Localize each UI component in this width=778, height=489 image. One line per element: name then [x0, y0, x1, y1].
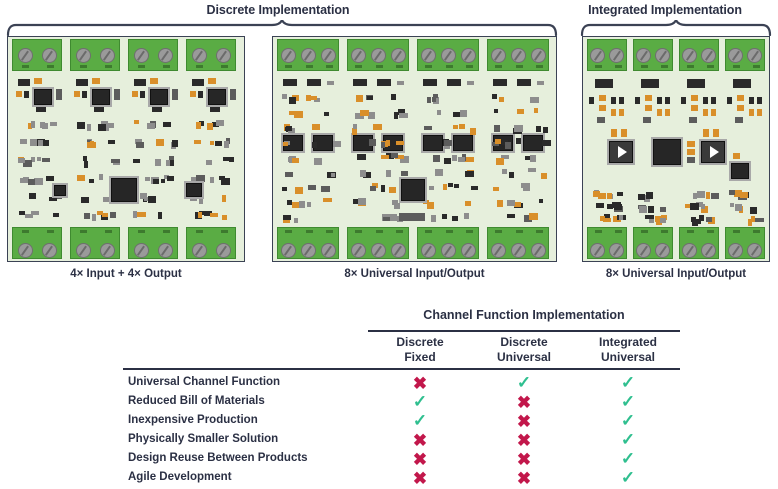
- smd-component: [37, 157, 41, 161]
- terminal-screw-icon: [371, 243, 386, 258]
- smd-component: [645, 105, 652, 111]
- smd-component: [452, 216, 458, 221]
- smd-component: [460, 110, 467, 117]
- smd-component: [299, 201, 305, 208]
- row-label: Universal Channel Function: [128, 376, 280, 388]
- smd-component: [493, 187, 499, 191]
- cell-mark: ✖: [368, 376, 472, 391]
- terminal-screw-icon: [747, 48, 762, 63]
- terminal-screw-icon: [636, 48, 651, 63]
- integrated-circuit: [92, 89, 110, 105]
- smd-component: [690, 203, 699, 210]
- smd-component: [373, 124, 382, 130]
- board-caption-1: 4× Input + 4× Output: [7, 268, 245, 280]
- terminal-screw-icon: [747, 243, 762, 258]
- smd-component: [208, 78, 216, 84]
- terminal-pad: [80, 230, 87, 233]
- integrated-circuit: [150, 89, 168, 105]
- terminal-pad: [661, 65, 668, 68]
- smd-component: [34, 178, 43, 185]
- terminal-block: [633, 227, 673, 259]
- smd-component: [611, 129, 617, 137]
- cell-mark: ✖: [472, 395, 576, 410]
- terminal-screw-icon: [728, 243, 743, 258]
- terminal-pad: [221, 230, 228, 233]
- cell-mark: ✖: [472, 433, 576, 448]
- smd-component: [429, 186, 434, 190]
- smd-component: [643, 117, 651, 123]
- smd-component: [358, 198, 366, 205]
- terminal-pad: [221, 65, 228, 68]
- terminal-pad: [466, 65, 473, 68]
- smd-component: [156, 139, 164, 146]
- smd-component: [453, 125, 458, 129]
- smd-component: [147, 123, 155, 129]
- smd-component: [36, 107, 46, 112]
- smd-component: [521, 183, 530, 188]
- smd-component: [452, 155, 457, 161]
- smd-component: [692, 219, 698, 226]
- smd-component: [111, 159, 120, 163]
- smd-component: [132, 91, 138, 97]
- integrated-circuit: [731, 163, 749, 179]
- smd-component: [467, 81, 474, 85]
- cell-mark: ✓: [576, 413, 680, 428]
- smd-component: [198, 91, 203, 98]
- smd-component: [431, 215, 436, 222]
- cell-mark: ✖: [368, 471, 472, 486]
- smd-component: [230, 89, 236, 100]
- terminal-screw-icon: [609, 48, 624, 63]
- smd-component: [454, 184, 459, 188]
- smd-component: [77, 175, 85, 181]
- smd-component: [99, 174, 103, 180]
- terminal-pad: [495, 230, 502, 233]
- cell-mark: ✖: [368, 452, 472, 467]
- table-rule-top: [368, 330, 680, 332]
- smd-component: [389, 187, 396, 193]
- smd-component: [82, 91, 87, 98]
- smd-component: [706, 192, 710, 199]
- terminal-pad: [355, 65, 362, 68]
- smd-component: [470, 128, 476, 135]
- terminal-block: [128, 227, 178, 259]
- smd-component: [327, 81, 334, 85]
- terminal-screw-icon: [728, 48, 743, 63]
- smd-component: [711, 193, 719, 199]
- smd-component: [190, 91, 196, 97]
- smd-component: [216, 120, 224, 126]
- smd-component: [757, 97, 762, 104]
- smd-component: [42, 158, 50, 162]
- smd-component: [711, 97, 716, 104]
- smd-component: [377, 79, 391, 86]
- smd-component: [40, 122, 45, 128]
- integrated-circuit: [423, 135, 443, 151]
- smd-component: [437, 110, 441, 115]
- smd-component: [433, 155, 440, 162]
- smd-component: [49, 197, 57, 201]
- terminal-screw-icon: [301, 243, 316, 258]
- smd-component: [370, 186, 376, 191]
- smd-component: [713, 129, 719, 137]
- terminal-screw-icon: [636, 243, 651, 258]
- smd-component: [383, 217, 390, 221]
- terminal-pad: [326, 65, 333, 68]
- smd-component: [331, 173, 335, 177]
- smd-component: [295, 187, 303, 194]
- smd-component: [509, 172, 514, 178]
- smd-component: [534, 108, 538, 113]
- smd-component: [134, 79, 146, 86]
- board-caption-2: 8× Universal Input/Output: [272, 268, 557, 280]
- smd-component: [222, 195, 226, 202]
- smd-component: [152, 107, 162, 112]
- smd-component: [386, 140, 390, 146]
- terminal-pad: [425, 65, 432, 68]
- smd-component: [283, 215, 291, 220]
- smd-component: [447, 79, 461, 86]
- smd-component: [170, 159, 174, 166]
- smd-component: [509, 200, 515, 206]
- terminal-block: [679, 227, 719, 259]
- smd-component: [92, 214, 96, 221]
- smd-component: [499, 97, 504, 102]
- smd-component: [312, 124, 320, 130]
- smd-component: [31, 121, 35, 128]
- smd-component: [324, 112, 329, 116]
- smd-component: [210, 213, 218, 217]
- terminal-pad: [707, 230, 714, 233]
- integrated-circuit: [186, 183, 202, 197]
- smd-component: [307, 79, 321, 86]
- terminal-pad: [47, 65, 54, 68]
- terminal-screw-icon: [655, 243, 670, 258]
- smd-component: [471, 186, 478, 190]
- smd-component: [196, 175, 205, 182]
- smd-component: [292, 158, 299, 163]
- smd-component: [693, 193, 697, 199]
- smd-component: [38, 140, 43, 146]
- smd-component: [727, 97, 732, 104]
- smd-component: [397, 81, 404, 85]
- smd-component: [516, 138, 521, 144]
- smd-component: [596, 203, 604, 208]
- terminal-screw-icon: [18, 48, 33, 63]
- smd-component: [424, 126, 432, 130]
- terminal-screw-icon: [321, 48, 336, 63]
- smd-component: [53, 213, 59, 217]
- smd-component: [76, 79, 88, 86]
- smd-component: [30, 139, 37, 146]
- smd-component: [207, 123, 213, 130]
- terminal-screw-icon: [421, 243, 436, 258]
- smd-component: [497, 200, 503, 207]
- terminal-pad: [595, 230, 602, 233]
- column-header-integrated-universal: Integrated Universal: [576, 335, 680, 364]
- terminal-block: [70, 227, 120, 259]
- smd-component: [92, 78, 100, 84]
- smd-component: [711, 109, 716, 116]
- terminal-pad: [516, 65, 523, 68]
- smd-component: [597, 117, 605, 123]
- smd-component: [665, 109, 670, 116]
- pcb-board-discrete-universal: [272, 36, 557, 262]
- smd-component: [589, 97, 594, 104]
- terminal-pad: [80, 65, 87, 68]
- terminal-pad: [446, 65, 453, 68]
- terminal-screw-icon: [511, 48, 526, 63]
- smd-component: [399, 213, 425, 221]
- terminal-block: [725, 227, 765, 259]
- smd-component: [495, 139, 501, 144]
- smd-component: [701, 204, 705, 209]
- row-label: Physically Smaller Solution: [128, 433, 278, 445]
- cell-mark: ✓: [576, 470, 680, 485]
- smd-component: [660, 207, 666, 212]
- smd-component: [283, 142, 288, 146]
- smd-component: [635, 97, 640, 104]
- smd-component: [31, 211, 39, 215]
- smd-component: [46, 176, 54, 181]
- terminal-screw-icon: [531, 48, 546, 63]
- smd-component: [353, 124, 357, 129]
- smd-component: [150, 78, 158, 84]
- smd-component: [598, 193, 606, 199]
- smd-component: [145, 177, 150, 181]
- smd-component: [222, 215, 227, 220]
- column-header-discrete-universal: Discrete Universal: [472, 335, 576, 364]
- smd-component: [396, 141, 404, 145]
- group-title-integrated: Integrated Implementation: [535, 3, 778, 17]
- smd-component: [102, 213, 108, 217]
- terminal-pad: [138, 230, 145, 233]
- terminal-pad: [687, 230, 694, 233]
- smd-component: [646, 192, 653, 199]
- terminal-pad: [376, 65, 383, 68]
- smd-component: [730, 203, 734, 207]
- smd-component: [87, 142, 96, 148]
- terminal-screw-icon: [281, 48, 296, 63]
- terminal-screw-icon: [371, 48, 386, 63]
- smd-component: [29, 193, 36, 199]
- smd-component: [665, 97, 670, 104]
- column-header-discrete-fixed: Discrete Fixed: [368, 335, 472, 364]
- integrated-circuit: [54, 185, 66, 196]
- terminal-screw-icon: [158, 243, 173, 258]
- smd-component: [443, 184, 447, 190]
- cell-mark: ✓: [368, 413, 472, 428]
- smd-component: [199, 197, 203, 204]
- board-caption-3: 8× Universal Input/Output: [582, 268, 770, 280]
- terminal-pad: [196, 65, 203, 68]
- smd-component: [735, 204, 742, 211]
- smd-component: [198, 212, 202, 218]
- terminal-pad: [733, 65, 740, 68]
- smd-component: [394, 112, 398, 119]
- terminal-pad: [687, 65, 694, 68]
- smd-component: [94, 107, 104, 112]
- smd-component: [333, 141, 341, 147]
- terminal-pad: [615, 230, 622, 233]
- smd-component: [391, 94, 396, 100]
- row-label: Design Reuse Between Products: [128, 452, 308, 464]
- smd-component: [368, 112, 375, 119]
- smd-component: [448, 183, 453, 187]
- terminal-screw-icon: [491, 243, 506, 258]
- terminal-pad: [376, 230, 383, 233]
- cell-mark: ✓: [576, 375, 680, 390]
- smd-component: [381, 142, 385, 148]
- smd-component: [619, 215, 623, 220]
- smd-component: [502, 169, 507, 174]
- column-header-line1: Discrete: [368, 335, 472, 350]
- smd-component: [530, 97, 539, 103]
- smd-component: [660, 218, 666, 223]
- smd-component: [392, 200, 398, 205]
- smd-component: [433, 94, 438, 98]
- smd-component: [444, 140, 452, 146]
- terminal-screw-icon: [590, 48, 605, 63]
- smd-component: [292, 202, 299, 208]
- smd-component: [619, 109, 624, 116]
- terminal-screw-icon: [701, 243, 716, 258]
- terminal-screw-icon: [281, 243, 296, 258]
- smd-component: [537, 81, 544, 85]
- isolator-triangle-icon: [701, 141, 725, 163]
- integrated-circuit: [111, 178, 137, 202]
- terminal-screw-icon: [42, 243, 57, 258]
- cell-mark: ✖: [368, 433, 472, 448]
- smd-component: [308, 185, 316, 190]
- smd-component: [529, 213, 538, 220]
- terminal-block: [277, 227, 339, 259]
- terminal-pad: [138, 65, 145, 68]
- smd-component: [360, 170, 366, 177]
- smd-component: [645, 95, 652, 101]
- smd-component: [465, 157, 474, 162]
- smd-component: [735, 190, 742, 195]
- terminal-pad: [326, 230, 333, 233]
- terminal-screw-icon: [701, 48, 716, 63]
- smd-component: [167, 176, 174, 181]
- terminal-screw-icon: [216, 48, 231, 63]
- terminal-screw-icon: [321, 243, 336, 258]
- smd-component: [505, 142, 511, 149]
- smd-component: [77, 122, 85, 129]
- smd-component: [357, 154, 366, 160]
- smd-component: [352, 128, 357, 135]
- smd-component: [74, 91, 80, 97]
- smd-component: [494, 125, 500, 132]
- smd-component: [638, 194, 645, 200]
- smd-component: [285, 127, 292, 131]
- smd-component: [321, 186, 330, 192]
- smd-component: [158, 212, 162, 219]
- smd-component: [215, 141, 222, 146]
- smd-component: [611, 109, 616, 116]
- smd-component: [649, 219, 654, 223]
- smd-component: [494, 109, 498, 113]
- integrated-circuit: [34, 89, 52, 105]
- terminal-screw-icon: [491, 48, 506, 63]
- infographic-root: Discrete Implementation Integrated Imple…: [0, 0, 778, 489]
- table-super-header: Channel Function Implementation: [368, 308, 680, 322]
- terminal-pad: [753, 230, 760, 233]
- column-header-line1: Discrete: [472, 335, 576, 350]
- terminal-pad: [396, 65, 403, 68]
- smd-component: [137, 212, 146, 217]
- smd-component: [755, 218, 764, 222]
- smd-component: [687, 79, 705, 88]
- terminal-block: [417, 39, 479, 71]
- smd-component: [507, 214, 515, 218]
- terminal-screw-icon: [511, 243, 526, 258]
- smd-component: [312, 142, 317, 148]
- integrated-circuit: [453, 135, 473, 151]
- smd-component: [687, 149, 695, 155]
- smd-component: [733, 153, 740, 159]
- smd-component: [391, 153, 398, 158]
- terminal-pad: [641, 230, 648, 233]
- smd-component: [621, 129, 627, 137]
- smd-component: [283, 79, 297, 86]
- smd-component: [681, 97, 686, 104]
- smd-component: [611, 97, 616, 104]
- smd-component: [307, 202, 311, 207]
- terminal-block: [725, 39, 765, 71]
- terminal-block: [277, 39, 339, 71]
- terminal-pad: [641, 65, 648, 68]
- terminal-screw-icon: [76, 243, 91, 258]
- smd-component: [206, 160, 212, 165]
- smd-component: [84, 213, 90, 219]
- terminal-screw-icon: [461, 48, 476, 63]
- terminal-screw-icon: [100, 48, 115, 63]
- smd-component: [353, 79, 367, 86]
- smd-component: [639, 206, 647, 213]
- terminal-pad: [196, 230, 203, 233]
- smd-component: [169, 156, 174, 160]
- terminal-screw-icon: [134, 48, 149, 63]
- terminal-block: [186, 227, 236, 259]
- terminal-block: [633, 39, 673, 71]
- smd-component: [289, 111, 297, 115]
- smd-component: [465, 171, 474, 177]
- terminal-block: [12, 39, 62, 71]
- smd-component: [514, 202, 521, 207]
- terminal-pad: [22, 65, 29, 68]
- smd-component: [50, 122, 57, 126]
- smd-component: [706, 217, 712, 222]
- terminal-screw-icon: [531, 243, 546, 258]
- cell-mark: ✓: [368, 394, 472, 409]
- smd-component: [282, 187, 287, 191]
- terminal-screw-icon: [351, 243, 366, 258]
- smd-component: [381, 185, 385, 192]
- smd-component: [600, 216, 605, 221]
- smd-component: [599, 95, 606, 101]
- terminal-screw-icon: [441, 243, 456, 258]
- terminal-pad: [536, 230, 543, 233]
- column-header-line2: Fixed: [368, 350, 472, 365]
- smd-component: [134, 120, 139, 124]
- terminal-pad: [105, 65, 112, 68]
- smd-component: [539, 199, 543, 203]
- smd-component: [427, 97, 431, 103]
- terminal-block: [186, 39, 236, 71]
- smd-component: [459, 124, 465, 129]
